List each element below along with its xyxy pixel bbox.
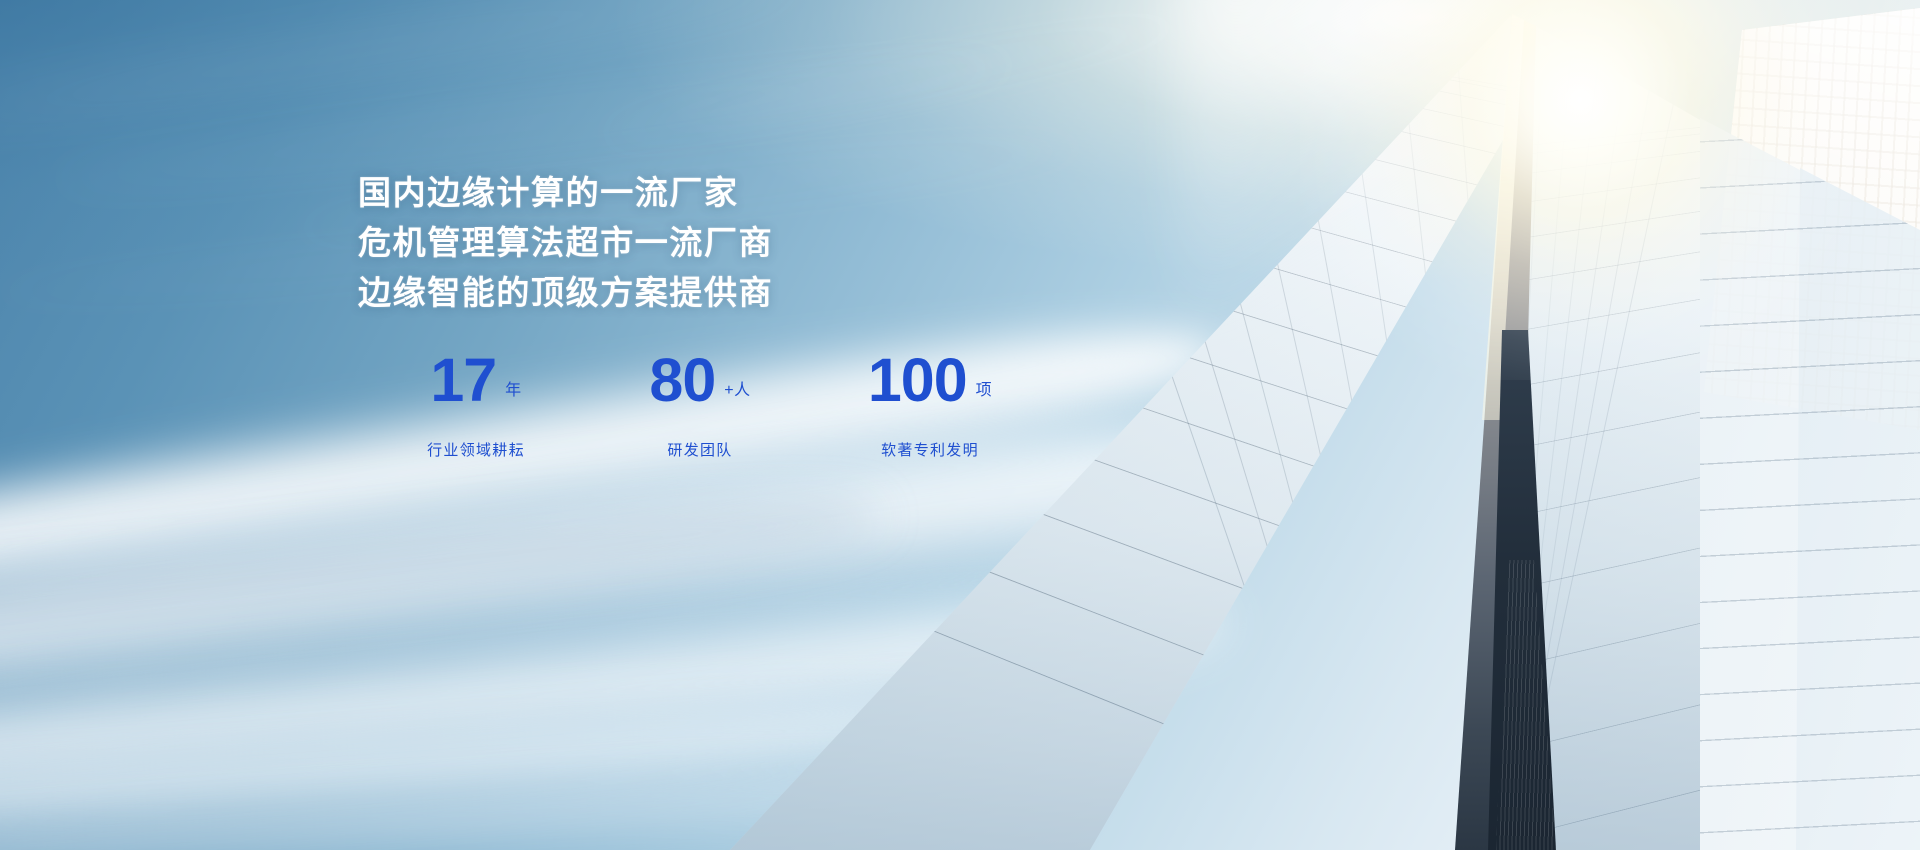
- stat-value-row: 17 年: [370, 352, 582, 408]
- stat-item-team: 80 +人 研发团队: [594, 352, 806, 460]
- stat-value-row: 80 +人: [594, 352, 806, 408]
- stat-unit: +人: [724, 376, 750, 400]
- hero-banner: 国内边缘计算的一流厂家 危机管理算法超市一流厂商 边缘智能的顶级方案提供商 17…: [0, 0, 1920, 850]
- stat-number: 100: [868, 352, 967, 408]
- stat-item-years: 17 年 行业领域耕耘: [370, 352, 582, 460]
- stat-label: 行业领域耕耘: [370, 439, 582, 460]
- headline-line-2: 危机管理算法超市一流厂商: [358, 218, 1036, 268]
- stat-label: 软著专利发明: [824, 439, 1036, 460]
- headline-line-1: 国内边缘计算的一流厂家: [358, 168, 1036, 218]
- stat-number: 17: [430, 352, 496, 408]
- headline-block: 国内边缘计算的一流厂家 危机管理算法超市一流厂商 边缘智能的顶级方案提供商: [358, 168, 1036, 318]
- stat-unit: 项: [976, 376, 993, 400]
- stats-row: 17 年 行业领域耕耘 80 +人 研发团队 100 项 软著专利发明: [370, 352, 1036, 460]
- stat-number: 80: [649, 352, 715, 408]
- stat-item-patents: 100 项 软著专利发明: [824, 352, 1036, 460]
- headline-line-3: 边缘智能的顶级方案提供商: [358, 268, 1036, 318]
- stat-value-row: 100 项: [824, 352, 1036, 408]
- stat-unit: 年: [505, 376, 522, 400]
- hero-content: 国内边缘计算的一流厂家 危机管理算法超市一流厂商 边缘智能的顶级方案提供商 17…: [358, 168, 1036, 460]
- stat-label: 研发团队: [594, 439, 806, 460]
